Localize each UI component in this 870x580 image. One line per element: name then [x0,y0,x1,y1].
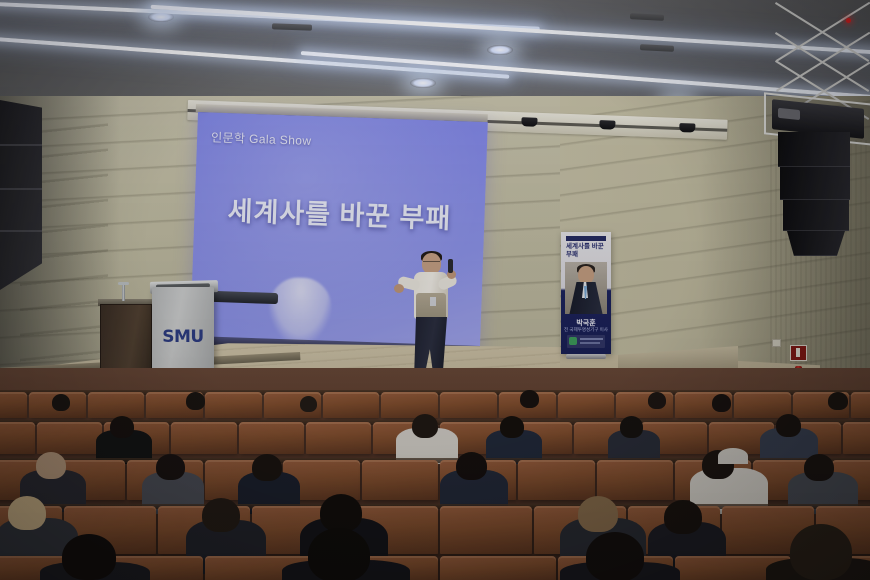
track-spotlight-6 [599,120,615,130]
audience-head [804,454,834,481]
presenter-glasses [423,261,440,266]
seat [597,460,673,500]
banner-speaker-subtitle: 전 국제투명성기구 이사 [561,327,611,333]
seat [518,460,594,500]
seat [0,392,27,418]
faucet [122,283,125,301]
audience-head [520,390,539,408]
rollup-banner: 세계사를 바꾼 부패 박국훈 전 국제투명성기구 이사 [561,232,611,354]
seat [306,422,371,454]
seat [558,392,615,418]
presenter [400,253,458,386]
track-spotlight-7 [679,123,695,133]
audience-seating-area [0,368,870,580]
projector-lens [778,108,800,120]
audience-head [52,394,70,411]
audience-head [186,392,205,410]
seat [843,422,870,454]
audience-head [828,392,848,410]
audience-head [578,496,618,532]
ceiling-light-hotspot-1 [148,12,174,22]
seat [440,556,556,580]
audience-head [36,452,66,479]
audience-head [500,416,524,438]
audience-head [664,500,702,534]
seat-row-a [0,392,870,418]
seat [323,392,380,418]
presenter-left-hand [394,284,404,293]
projector-status-led [846,18,851,23]
slide-header-text: 인문학 Gala Show [211,128,312,148]
audience-silhouette-on-screen [268,277,332,343]
smu-logo: SMU [152,327,214,347]
seat [88,392,145,418]
seat [440,506,532,554]
handheld-microphone-icon [448,259,453,273]
audience-head [110,416,134,438]
ceiling-light-hotspot-3 [410,78,436,88]
banner-top-bar [566,236,606,241]
seat [37,422,102,454]
audience-head [648,392,666,409]
seat [362,460,438,500]
right-line-array-speaker [778,132,850,254]
seat [734,392,791,418]
audience-head-foreground [586,532,644,580]
audience-head [320,494,362,532]
ceiling-light-hotspot-2 [487,45,513,55]
banner-sponsor-logo [569,337,577,345]
scissor-lift-mount [776,2,870,98]
audience-head-foreground [790,524,852,580]
banner-portrait-photo [565,262,607,314]
audience-head [412,414,438,438]
audience-head [456,452,487,480]
audience-head [252,454,282,481]
seat [205,392,262,418]
seat [171,422,236,454]
audience-head [300,396,317,412]
banner-base-stand [566,354,606,359]
banner-portrait-face [578,266,594,284]
audience-head [202,498,240,532]
seat [0,422,35,454]
audience-head [712,394,731,412]
audience-head-foreground [308,528,370,580]
fire-equipment-sign [790,345,807,361]
auditorium-photo: 인문학 Gala Show 세계사를 바꾼 부패 SMU [0,0,870,580]
presenter-badge [430,297,436,306]
seat [851,392,870,418]
audience-head-foreground [62,534,116,580]
audience-head [156,454,185,480]
seat [440,392,497,418]
audience-head [776,414,801,437]
seat [239,422,304,454]
banner-footer-line-1 [580,338,603,340]
projector-and-speaker-rig [758,0,870,264]
banner-title: 세계사를 바꾼 부패 [566,243,608,259]
left-line-array-speaker [0,100,42,290]
audience-cap [718,448,748,464]
banner-footer-line-2 [580,342,600,344]
track-spotlight-5 [521,117,537,127]
audience-head [620,416,643,438]
faucet-handle [118,282,129,285]
wall-outlet [772,339,781,347]
seat-row-d [0,506,870,554]
podium-monitor-arm [212,291,278,304]
audience-head [8,496,46,530]
